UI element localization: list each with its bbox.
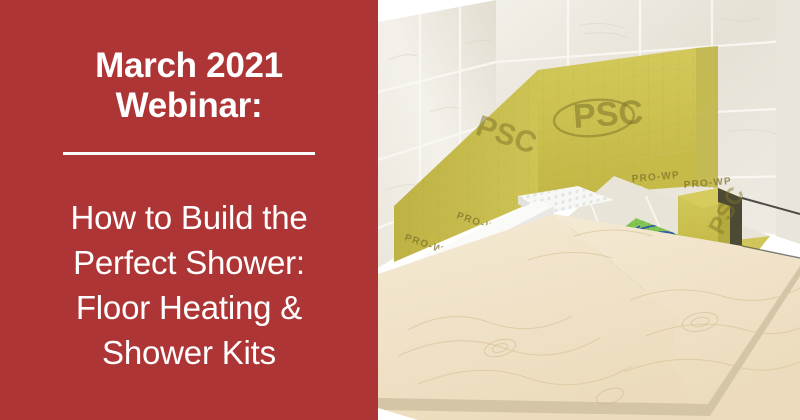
title-divider	[63, 152, 315, 155]
webinar-promo-banner: March 2021 Webinar: How to Build the Per…	[0, 0, 800, 420]
webinar-headline: How to Build the Perfect Shower: Floor H…	[70, 195, 307, 375]
title-panel: March 2021 Webinar: How to Build the Per…	[0, 0, 378, 420]
back-wall-membrane: PSC	[538, 46, 718, 200]
shower-cutaway-illustration: PSC PSC PRO-WP PRO-WP	[378, 0, 800, 420]
shower-illustration-panel: PSC PSC PRO-WP PRO-WP	[378, 0, 800, 420]
webinar-eyebrow: March 2021 Webinar:	[95, 46, 283, 126]
